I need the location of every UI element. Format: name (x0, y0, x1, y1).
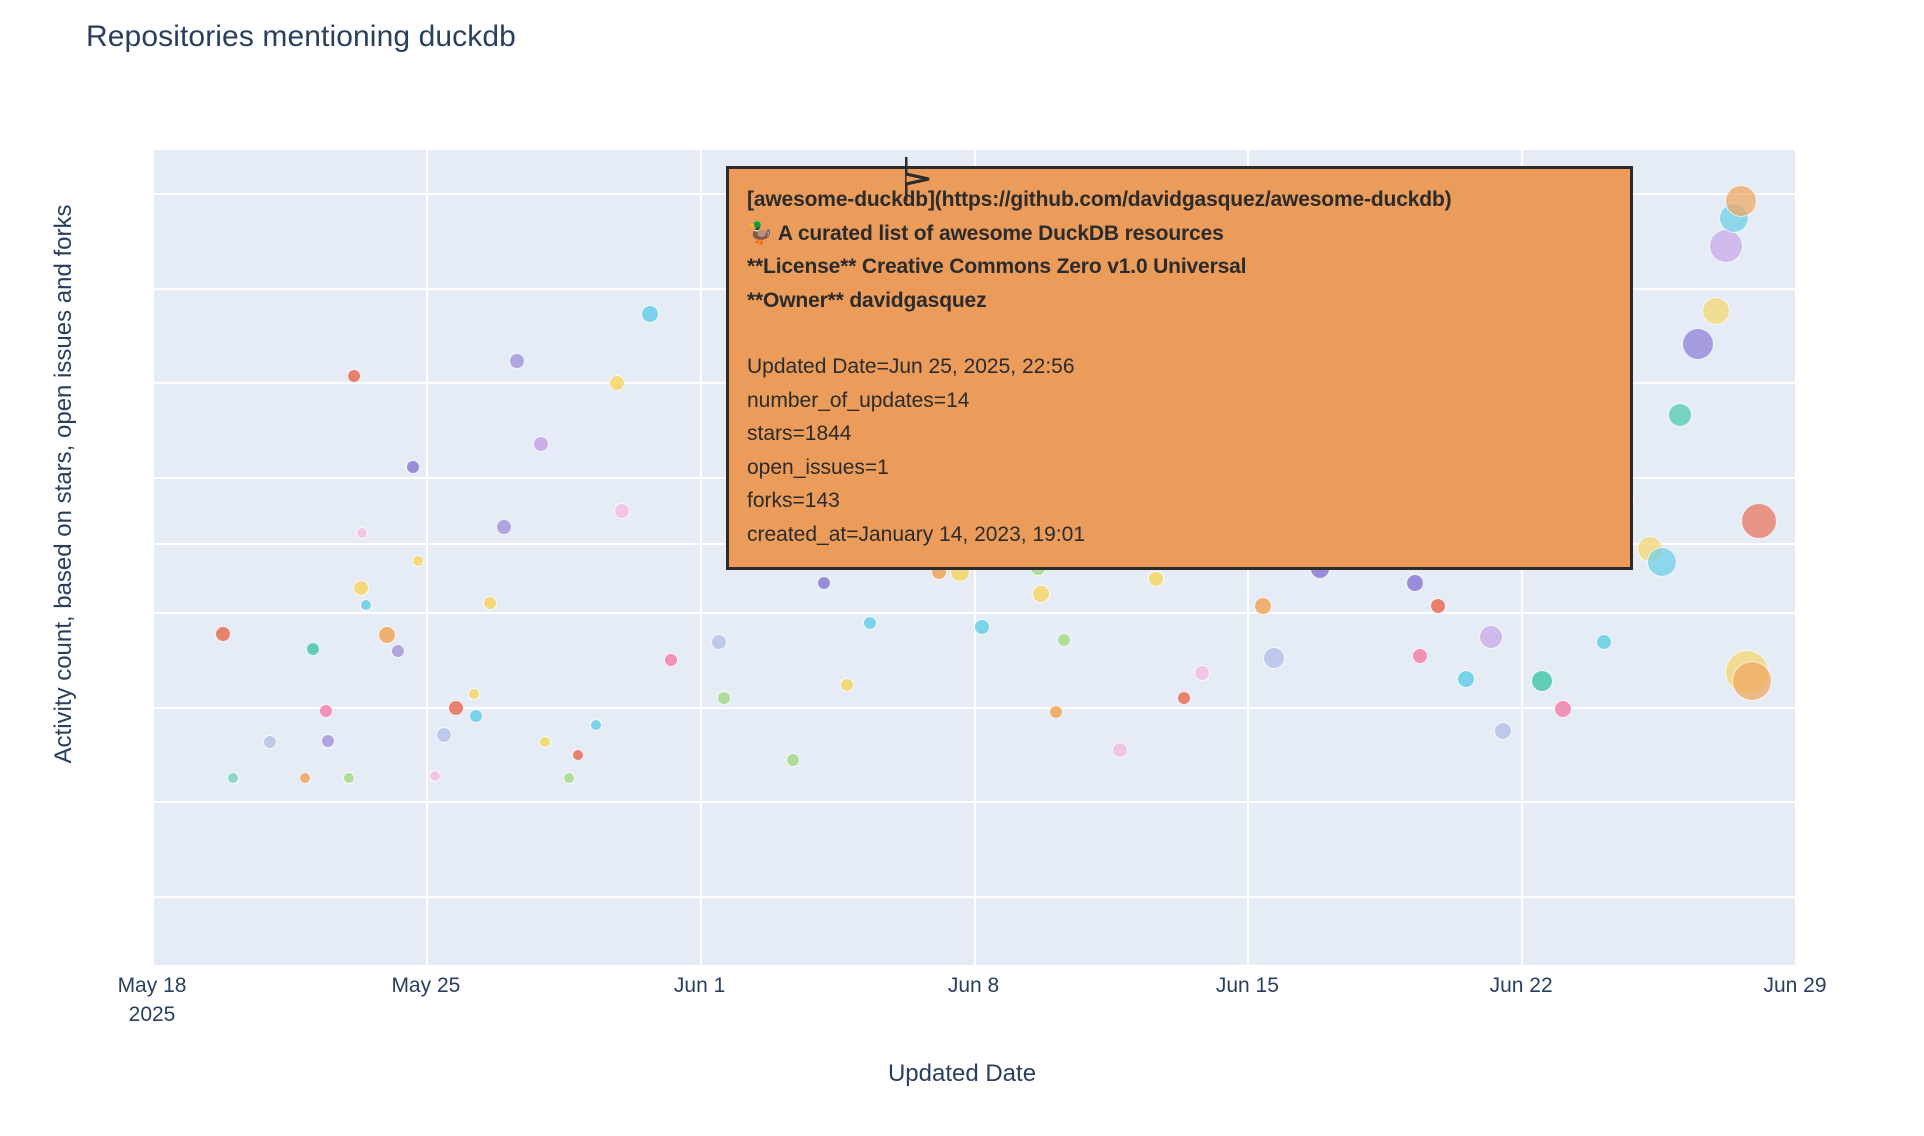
data-point[interactable] (590, 719, 602, 731)
tooltip-detail-line-0: Updated Date=Jun 25, 2025, 22:56 (747, 350, 1612, 384)
data-point[interactable] (1412, 648, 1428, 664)
x-tick-year: 2025 (118, 1003, 187, 1027)
data-point[interactable] (1725, 185, 1757, 217)
data-point[interactable] (306, 642, 320, 656)
data-point[interactable] (974, 619, 990, 635)
data-point[interactable] (1457, 670, 1475, 688)
data-point[interactable] (496, 519, 512, 535)
data-point[interactable] (436, 727, 452, 743)
tooltip-bold-line-2: **License** Creative Commons Zero v1.0 U… (747, 250, 1612, 284)
data-point[interactable] (1430, 598, 1446, 614)
y-axis-title: Activity count, based on stars, open iss… (50, 144, 78, 824)
data-point[interactable] (1406, 574, 1424, 592)
data-point[interactable] (378, 626, 396, 644)
data-point[interactable] (391, 644, 405, 658)
data-point[interactable] (347, 369, 361, 383)
data-point[interactable] (343, 772, 355, 784)
data-point[interactable] (1709, 229, 1743, 263)
tooltip-detail-line-4: forks=143 (747, 484, 1612, 518)
data-point[interactable] (299, 772, 311, 784)
data-point[interactable] (609, 375, 625, 391)
data-point[interactable] (360, 599, 372, 611)
data-point[interactable] (1741, 503, 1777, 539)
data-point[interactable] (1112, 742, 1128, 758)
data-point[interactable] (614, 503, 630, 519)
x-tick-label-2: Jun 1 (674, 974, 725, 998)
page-title: Repositories mentioning duckdb (86, 20, 516, 54)
data-point[interactable] (1177, 691, 1191, 705)
data-point[interactable] (483, 596, 497, 610)
tooltip-detail-line-2: stars=1844 (747, 417, 1612, 451)
data-point[interactable] (406, 460, 420, 474)
x-tick-main: Jun 1 (674, 974, 725, 997)
x-tick-label-0: May 182025 (118, 974, 187, 1027)
data-point[interactable] (641, 305, 659, 323)
tooltip-bold-lines: [awesome-duckdb](https://github.com/davi… (747, 183, 1612, 317)
data-point[interactable] (539, 736, 551, 748)
tooltip-bold-line-1: 🦆 A curated list of awesome DuckDB resou… (747, 217, 1612, 251)
tooltip-detail-line-1: number_of_updates=14 (747, 384, 1612, 418)
data-point[interactable] (468, 688, 480, 700)
x-tick-label-3: Jun 8 (948, 974, 999, 998)
data-point[interactable] (1479, 625, 1503, 649)
data-point[interactable] (1732, 661, 1772, 701)
tooltip-spacer (747, 317, 1612, 350)
data-point[interactable] (1647, 547, 1677, 577)
data-point[interactable] (563, 772, 575, 784)
data-point[interactable] (717, 691, 731, 705)
tooltip-detail-line-3: open_issues=1 (747, 451, 1612, 485)
tooltip-detail-lines: Updated Date=Jun 25, 2025, 22:56number_o… (747, 350, 1612, 551)
data-point[interactable] (1254, 597, 1272, 615)
data-point[interactable] (1668, 403, 1692, 427)
data-point[interactable] (1531, 670, 1553, 692)
data-point[interactable] (711, 634, 727, 650)
data-point[interactable] (786, 753, 800, 767)
data-point[interactable] (1494, 722, 1512, 740)
data-point[interactable] (263, 735, 277, 749)
data-point[interactable] (840, 678, 854, 692)
data-point[interactable] (1682, 328, 1714, 360)
x-tick-label-5: Jun 22 (1490, 974, 1553, 998)
chart-page: Repositories mentioning duckdb May 18202… (0, 0, 1924, 1136)
x-tick-main: May 18 (118, 974, 187, 997)
data-point[interactable] (1032, 585, 1050, 603)
data-point[interactable] (412, 555, 424, 567)
x-tick-label-6: Jun 29 (1763, 974, 1826, 998)
data-point[interactable] (1263, 647, 1285, 669)
tooltip-detail-line-5: created_at=January 14, 2023, 19:01 (747, 518, 1612, 552)
x-tick-main: Jun 8 (948, 974, 999, 997)
x-tick-main: May 25 (391, 974, 460, 997)
data-point[interactable] (664, 653, 678, 667)
data-point[interactable] (1702, 297, 1730, 325)
data-point[interactable] (469, 709, 483, 723)
data-point[interactable] (572, 749, 584, 761)
data-point[interactable] (356, 527, 368, 539)
data-point[interactable] (863, 616, 877, 630)
data-point[interactable] (227, 772, 239, 784)
data-point[interactable] (1554, 700, 1572, 718)
data-point[interactable] (1596, 634, 1612, 650)
x-tick-label-4: Jun 15 (1216, 974, 1279, 998)
data-point[interactable] (321, 734, 335, 748)
x-tick-main: Jun 29 (1763, 974, 1826, 997)
data-point[interactable] (448, 700, 464, 716)
x-tick-main: Jun 22 (1490, 974, 1553, 997)
data-point[interactable] (353, 580, 369, 596)
gridline-vertical-2 (700, 150, 702, 965)
x-tick-main: Jun 15 (1216, 974, 1279, 997)
tooltip-bold-line-3: **Owner** davidgasquez (747, 284, 1612, 318)
data-point[interactable] (1049, 705, 1063, 719)
data-point[interactable] (509, 353, 525, 369)
data-point[interactable] (1057, 633, 1071, 647)
tooltip-bold-line-0: [awesome-duckdb](https://github.com/davi… (747, 183, 1612, 217)
data-point[interactable] (429, 770, 441, 782)
data-point[interactable] (817, 576, 831, 590)
gridline-vertical-1 (426, 150, 428, 965)
data-point[interactable] (1194, 665, 1210, 681)
x-tick-label-1: May 25 (391, 974, 460, 998)
data-point[interactable] (215, 626, 231, 642)
data-point[interactable] (533, 436, 549, 452)
data-point[interactable] (319, 704, 333, 718)
x-axis-title: Updated Date (0, 1060, 1924, 1088)
gridline-vertical-0 (152, 150, 154, 965)
hover-tooltip: [awesome-duckdb](https://github.com/davi… (726, 166, 1633, 570)
data-point[interactable] (1148, 571, 1164, 587)
tooltip-pointer-arrow (905, 157, 931, 201)
